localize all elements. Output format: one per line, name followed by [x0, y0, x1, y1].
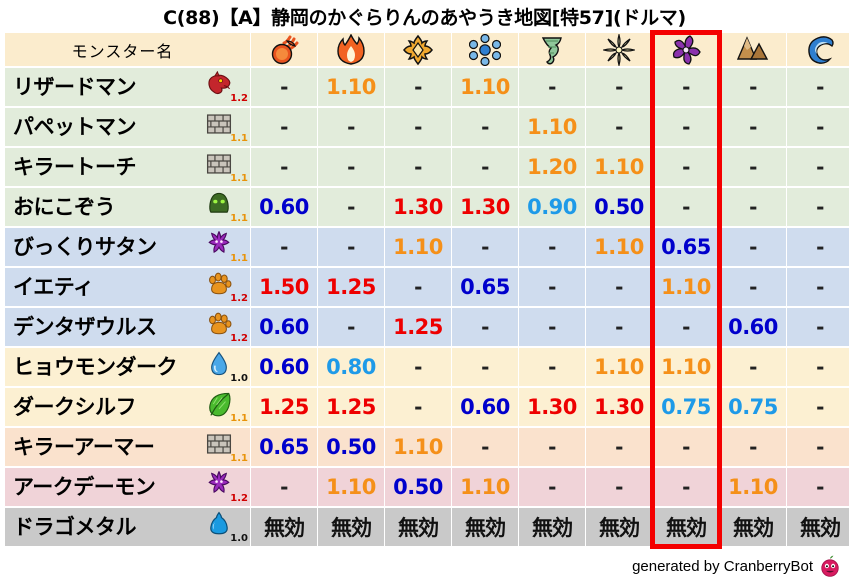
monster-name-cell[interactable]: キラートーチ1.1 — [5, 148, 250, 186]
resistance-value: - — [749, 115, 757, 139]
column-header-purple-pinwheel[interactable] — [653, 33, 719, 66]
dragon-head-icon — [206, 71, 232, 97]
monster-name-inner: ドラゴメタル1.0 — [5, 508, 250, 546]
paw-print-icon — [206, 271, 232, 297]
resistance-value: - — [682, 475, 690, 499]
resistance-cell: - — [586, 68, 652, 106]
resistance-value: 0.80 — [326, 355, 376, 379]
resistance-cell: 0.50 — [586, 188, 652, 226]
resistance-value: - — [682, 315, 690, 339]
resistance-value: - — [347, 235, 355, 259]
green-slime-icon — [206, 191, 232, 217]
resistance-value: 1.30 — [527, 395, 577, 419]
snowflake-icon — [469, 34, 501, 66]
table-row: デンタザウルス1.20.60-1.25----0.60- — [5, 308, 849, 346]
resistance-value: - — [347, 115, 355, 139]
resistance-value: 0.60 — [259, 315, 309, 339]
column-header-flame[interactable] — [318, 33, 384, 66]
resistance-value: 0.60 — [460, 395, 510, 419]
resistance-cell: - — [787, 428, 849, 466]
monster-name-label: キラーアーマー — [13, 437, 204, 458]
resistance-value: - — [548, 235, 556, 259]
resistance-cell: 0.60 — [720, 308, 786, 346]
resistance-cell: - — [318, 148, 384, 186]
resistance-cell: 0.60 — [251, 308, 317, 346]
resistance-cell: 0.60 — [452, 388, 518, 426]
resistance-cell: - — [653, 428, 719, 466]
brick-wall-icon — [206, 151, 232, 177]
resistance-cell: 0.60 — [251, 348, 317, 386]
explosion-icon — [402, 34, 434, 66]
resistance-value: 1.10 — [594, 155, 644, 179]
resistance-cell: 1.25 — [251, 388, 317, 426]
monster-name-label: キラートーチ — [13, 157, 204, 178]
cranberry-icon — [819, 555, 841, 577]
resistance-cell: - — [787, 468, 849, 506]
resistance-value: - — [414, 275, 422, 299]
resistance-value: - — [682, 75, 690, 99]
monster-multiplier-label: 1.1 — [230, 254, 248, 264]
resistance-value: 0.60 — [728, 315, 778, 339]
table-header-row: モンスター名 — [5, 33, 849, 66]
resistance-cell: 1.10 — [318, 68, 384, 106]
resistance-value: - — [548, 435, 556, 459]
resistance-value: 無効 — [800, 516, 840, 540]
resistance-value: 1.10 — [460, 75, 510, 99]
monster-name-inner: アークデーモン1.2 — [5, 468, 250, 506]
resistance-value: 0.65 — [661, 235, 711, 259]
resistance-cell: 無効 — [385, 508, 451, 546]
resistance-value: 無効 — [666, 516, 706, 540]
resistance-value: 0.75 — [661, 395, 711, 419]
resistance-value: - — [749, 435, 757, 459]
monster-name-inner: デンタザウルス1.2 — [5, 308, 250, 346]
resistance-value: 1.30 — [393, 195, 443, 219]
monster-type-badge: 1.0 — [204, 510, 250, 544]
monster-type-badge: 1.1 — [204, 390, 250, 424]
table-row: ダークシルフ1.11.251.25-0.601.301.300.750.75- — [5, 388, 849, 426]
monster-name-inner: おにこぞう1.1 — [5, 188, 250, 226]
resistance-value: - — [548, 355, 556, 379]
resistance-value: 無効 — [264, 516, 304, 540]
resistance-value: 無効 — [532, 516, 572, 540]
monster-name-cell[interactable]: イエティ1.2 — [5, 268, 250, 306]
resistance-value: - — [682, 195, 690, 219]
resistance-value: - — [816, 235, 824, 259]
column-header-wave[interactable] — [787, 33, 849, 66]
resistance-value: 無効 — [398, 516, 438, 540]
resistance-value: - — [414, 75, 422, 99]
resistance-cell: - — [385, 348, 451, 386]
monster-multiplier-label: 1.2 — [230, 334, 248, 344]
monster-name-inner: パペットマン1.1 — [5, 108, 250, 146]
resistance-cell: - — [519, 68, 585, 106]
resistance-cell: - — [385, 268, 451, 306]
resistance-cell: - — [251, 68, 317, 106]
resistance-cell: 0.65 — [251, 428, 317, 466]
meteor-fire-icon — [268, 34, 300, 66]
monster-name-cell[interactable]: ヒョウモンダーク1.0 — [5, 348, 250, 386]
resistance-cell: 1.10 — [452, 68, 518, 106]
resistance-cell: - — [653, 148, 719, 186]
resistance-cell: - — [787, 108, 849, 146]
resistance-value: - — [682, 115, 690, 139]
resistance-value: - — [548, 75, 556, 99]
resistance-cell: - — [519, 428, 585, 466]
table-body: リザードマン1.2-1.10-1.10-----パペットマン1.1----1.1… — [5, 68, 849, 546]
resistance-value: 1.10 — [393, 435, 443, 459]
table-row: ヒョウモンダーク1.00.600.80---1.101.10-- — [5, 348, 849, 386]
resistance-value: - — [280, 475, 288, 499]
water-drop-icon — [206, 351, 232, 377]
monster-multiplier-label: 1.1 — [230, 414, 248, 424]
resistance-value: 1.30 — [594, 395, 644, 419]
resistance-value: - — [615, 315, 623, 339]
resistance-cell: - — [653, 468, 719, 506]
resistance-value: 1.10 — [594, 355, 644, 379]
resistance-value: 1.10 — [661, 275, 711, 299]
monster-type-badge: 1.2 — [204, 470, 250, 504]
tornado-icon — [536, 34, 568, 66]
resistance-value: 1.10 — [594, 235, 644, 259]
resistance-value: 無効 — [465, 516, 505, 540]
resistance-value: - — [414, 355, 422, 379]
resistance-cell: - — [519, 308, 585, 346]
paw-print-icon — [206, 311, 232, 337]
monster-name-label: ヒョウモンダーク — [13, 357, 204, 378]
resistance-cell: - — [519, 268, 585, 306]
monster-name-label: パペットマン — [13, 117, 204, 138]
monster-type-badge: 1.1 — [204, 190, 250, 224]
resistance-table: モンスター名 リザードマン1.2-1.10-1.10-----パペットマン1.1… — [4, 31, 849, 548]
resistance-value: 0.50 — [594, 195, 644, 219]
column-header-monster-name: モンスター名 — [5, 33, 250, 66]
resistance-cell: 0.65 — [653, 228, 719, 266]
resistance-value: - — [615, 275, 623, 299]
monster-multiplier-label: 1.1 — [230, 174, 248, 184]
resistance-value: - — [749, 75, 757, 99]
resistance-value: - — [548, 315, 556, 339]
resistance-cell: - — [251, 228, 317, 266]
monster-name-label: おにこぞう — [13, 197, 204, 218]
resistance-cell: - — [586, 468, 652, 506]
resistance-value: - — [816, 275, 824, 299]
monster-name-cell[interactable]: キラーアーマー1.1 — [5, 428, 250, 466]
resistance-value: - — [816, 155, 824, 179]
resistance-cell: - — [787, 228, 849, 266]
resistance-cell: - — [385, 108, 451, 146]
resistance-value: - — [414, 395, 422, 419]
resistance-cell: 0.65 — [452, 268, 518, 306]
resistance-cell: 1.10 — [385, 228, 451, 266]
resistance-cell: - — [452, 228, 518, 266]
resistance-value: 0.65 — [460, 275, 510, 299]
resistance-value: 1.25 — [326, 395, 376, 419]
resistance-value: - — [615, 75, 623, 99]
purple-pinwheel-icon — [670, 34, 702, 66]
monster-name-inner: びっくりサタン1.1 — [5, 228, 250, 266]
resistance-value: 無効 — [599, 516, 639, 540]
resistance-value: - — [615, 435, 623, 459]
resistance-value: - — [749, 235, 757, 259]
monster-multiplier-label: 1.0 — [230, 534, 248, 544]
monster-name-cell[interactable]: アークデーモン1.2 — [5, 468, 250, 506]
resistance-cell: - — [519, 228, 585, 266]
blue-slime-icon — [206, 511, 232, 537]
resistance-cell: - — [787, 68, 849, 106]
column-header-snowflake[interactable] — [452, 33, 518, 66]
monster-type-badge: 1.2 — [204, 70, 250, 104]
monster-type-badge: 1.1 — [204, 110, 250, 144]
resistance-cell: 1.10 — [586, 348, 652, 386]
resistance-value: - — [682, 155, 690, 179]
resistance-value: - — [816, 475, 824, 499]
resistance-cell: - — [653, 108, 719, 146]
monster-name-cell[interactable]: ドラゴメタル1.0 — [5, 508, 250, 546]
page-title: C(88)【A】静岡のかぐらりんのあやうき地図[特57](ドルマ) — [0, 0, 849, 31]
resistance-cell: 0.50 — [318, 428, 384, 466]
resistance-cell: 1.10 — [586, 148, 652, 186]
resistance-value: - — [481, 435, 489, 459]
resistance-cell: - — [720, 148, 786, 186]
table-row: ドラゴメタル1.0無効無効無効無効無効無効無効無効無効 — [5, 508, 849, 546]
monster-multiplier-label: 1.1 — [230, 214, 248, 224]
green-leaf-icon — [206, 391, 232, 417]
monster-name-inner: ダークシルフ1.1 — [5, 388, 250, 426]
resistance-cell: - — [720, 228, 786, 266]
resistance-cell: - — [318, 188, 384, 226]
resistance-value: - — [816, 395, 824, 419]
monster-multiplier-label: 1.1 — [230, 134, 248, 144]
monster-name-label: ダークシルフ — [13, 397, 204, 418]
resistance-cell: - — [586, 108, 652, 146]
resistance-value: - — [280, 115, 288, 139]
resistance-value: 0.50 — [326, 435, 376, 459]
resistance-cell: - — [653, 188, 719, 226]
resistance-value: - — [481, 115, 489, 139]
resistance-cell: 1.20 — [519, 148, 585, 186]
resistance-value: - — [682, 435, 690, 459]
resistance-value: 1.25 — [393, 315, 443, 339]
resistance-cell: 0.50 — [385, 468, 451, 506]
resistance-cell: 1.25 — [385, 308, 451, 346]
resistance-value: 1.50 — [259, 275, 309, 299]
resistance-value: 1.10 — [326, 75, 376, 99]
resistance-value: 0.65 — [259, 435, 309, 459]
resistance-cell: - — [586, 308, 652, 346]
resistance-value: - — [816, 355, 824, 379]
resistance-cell: 1.30 — [385, 188, 451, 226]
resistance-cell: - — [586, 428, 652, 466]
resistance-cell: 0.60 — [251, 188, 317, 226]
monster-name-inner: リザードマン1.2 — [5, 68, 250, 106]
monster-name-inner: イエティ1.2 — [5, 268, 250, 306]
resistance-value: 無効 — [733, 516, 773, 540]
monster-name-label: デンタザウルス — [13, 317, 204, 338]
resistance-cell: - — [720, 188, 786, 226]
resistance-cell: - — [452, 428, 518, 466]
resistance-cell: - — [452, 148, 518, 186]
purple-demon-icon — [206, 231, 232, 257]
resistance-cell: - — [318, 308, 384, 346]
resistance-value: - — [749, 155, 757, 179]
resistance-cell: - — [519, 348, 585, 386]
resistance-cell: - — [787, 188, 849, 226]
resistance-value: 0.90 — [527, 195, 577, 219]
resistance-cell: - — [519, 468, 585, 506]
purple-demon-icon — [206, 471, 232, 497]
resistance-value: - — [816, 115, 824, 139]
resistance-value: 0.50 — [393, 475, 443, 499]
resistance-value: - — [280, 235, 288, 259]
monster-name-label: びっくりサタン — [13, 237, 204, 258]
monster-name-cell[interactable]: デンタザウルス1.2 — [5, 308, 250, 346]
resistance-cell: - — [586, 268, 652, 306]
resistance-cell: - — [720, 348, 786, 386]
resistance-cell: 1.10 — [519, 108, 585, 146]
resistance-cell: 無効 — [720, 508, 786, 546]
resistance-value: - — [414, 115, 422, 139]
starburst-icon — [603, 34, 635, 66]
monster-name-inner: キラーアーマー1.1 — [5, 428, 250, 466]
resistance-value: - — [749, 275, 757, 299]
monster-name-inner: キラートーチ1.1 — [5, 148, 250, 186]
resistance-cell: 1.50 — [251, 268, 317, 306]
resistance-cell: - — [318, 228, 384, 266]
resistance-cell: 1.30 — [519, 388, 585, 426]
resistance-value: 1.25 — [326, 275, 376, 299]
resistance-value: 0.75 — [728, 395, 778, 419]
resistance-cell: - — [653, 68, 719, 106]
resistance-cell: - — [720, 268, 786, 306]
resistance-cell: - — [653, 308, 719, 346]
resistance-cell: - — [385, 68, 451, 106]
resistance-cell: - — [787, 268, 849, 306]
column-header-explosion[interactable] — [385, 33, 451, 66]
monster-name-label: ドラゴメタル — [13, 517, 204, 538]
monster-name-cell[interactable]: リザードマン1.2 — [5, 68, 250, 106]
monster-type-badge: 1.2 — [204, 310, 250, 344]
monster-name-label: リザードマン — [13, 77, 204, 98]
column-header-tornado[interactable] — [519, 33, 585, 66]
resistance-cell: 1.30 — [586, 388, 652, 426]
resistance-value: - — [749, 195, 757, 219]
resistance-value: 1.30 — [460, 195, 510, 219]
resistance-value: 1.10 — [460, 475, 510, 499]
resistance-cell: 1.10 — [653, 348, 719, 386]
resistance-value: - — [548, 275, 556, 299]
resistance-value: - — [816, 75, 824, 99]
table-row: リザードマン1.2-1.10-1.10----- — [5, 68, 849, 106]
resistance-cell: - — [787, 148, 849, 186]
column-header-meteor-fire[interactable] — [251, 33, 317, 66]
resistance-value: - — [749, 355, 757, 379]
resistance-cell: 無効 — [251, 508, 317, 546]
resistance-cell: 0.75 — [720, 388, 786, 426]
resistance-cell: - — [251, 468, 317, 506]
monster-name-cell[interactable]: おにこぞう1.1 — [5, 188, 250, 226]
resistance-value: 0.60 — [259, 355, 309, 379]
monster-name-cell[interactable]: ダークシルフ1.1 — [5, 388, 250, 426]
resistance-cell: - — [251, 108, 317, 146]
resistance-cell: - — [385, 148, 451, 186]
resistance-cell: - — [251, 148, 317, 186]
resistance-value: 1.10 — [728, 475, 778, 499]
resistance-cell: - — [720, 108, 786, 146]
footer-text: generated by CranberryBot — [632, 558, 813, 575]
monster-type-badge: 1.1 — [204, 230, 250, 264]
resistance-cell: 1.10 — [586, 228, 652, 266]
resistance-cell: 無効 — [452, 508, 518, 546]
resistance-cell: 0.75 — [653, 388, 719, 426]
resistance-cell: 無効 — [318, 508, 384, 546]
monster-type-badge: 1.2 — [204, 270, 250, 304]
table-container: モンスター名 リザードマン1.2-1.10-1.10-----パペットマン1.1… — [0, 31, 849, 548]
resistance-value: 1.10 — [393, 235, 443, 259]
resistance-value: 1.10 — [527, 115, 577, 139]
brick-wall-icon — [206, 111, 232, 137]
table-row: イエティ1.21.501.25-0.65--1.10-- — [5, 268, 849, 306]
table-row: おにこぞう1.10.60-1.301.300.900.50--- — [5, 188, 849, 226]
resistance-cell: - — [720, 68, 786, 106]
mountain-icon — [737, 34, 769, 66]
resistance-value: 0.60 — [259, 195, 309, 219]
monster-name-label: イエティ — [13, 277, 204, 298]
resistance-value: 1.10 — [661, 355, 711, 379]
resistance-value: 1.20 — [527, 155, 577, 179]
column-header-mountain[interactable] — [720, 33, 786, 66]
column-header-starburst[interactable] — [586, 33, 652, 66]
resistance-value: - — [816, 315, 824, 339]
monster-name-label: アークデーモン — [13, 477, 204, 498]
resistance-value: - — [481, 355, 489, 379]
resistance-cell: - — [385, 388, 451, 426]
resistance-cell: 0.90 — [519, 188, 585, 226]
resistance-cell: 1.30 — [452, 188, 518, 226]
resistance-value: - — [816, 195, 824, 219]
resistance-cell: 無効 — [586, 508, 652, 546]
resistance-value: - — [481, 235, 489, 259]
footer: generated by CranberryBot — [632, 555, 841, 577]
monster-multiplier-label: 1.2 — [230, 494, 248, 504]
monster-name-cell[interactable]: びっくりサタン1.1 — [5, 228, 250, 266]
table-row: びっくりサタン1.1--1.10--1.100.65-- — [5, 228, 849, 266]
flame-icon — [335, 34, 367, 66]
resistance-value: - — [280, 155, 288, 179]
resistance-cell: - — [787, 348, 849, 386]
resistance-value: - — [615, 115, 623, 139]
page-root: C(88)【A】静岡のかぐらりんのあやうき地図[特57](ドルマ) モンスター名… — [0, 0, 849, 583]
monster-type-badge: 1.1 — [204, 430, 250, 464]
resistance-value: 1.10 — [326, 475, 376, 499]
resistance-cell: - — [318, 108, 384, 146]
resistance-cell: 1.25 — [318, 388, 384, 426]
resistance-cell: - — [452, 348, 518, 386]
resistance-cell: 1.10 — [385, 428, 451, 466]
table-row: パペットマン1.1----1.10---- — [5, 108, 849, 146]
resistance-value: - — [615, 475, 623, 499]
monster-multiplier-label: 1.2 — [230, 294, 248, 304]
wave-icon — [804, 34, 836, 66]
monster-multiplier-label: 1.2 — [230, 94, 248, 104]
resistance-value: 無効 — [331, 516, 371, 540]
monster-name-cell[interactable]: パペットマン1.1 — [5, 108, 250, 146]
resistance-value: - — [347, 315, 355, 339]
monster-type-badge: 1.0 — [204, 350, 250, 384]
monster-multiplier-label: 1.0 — [230, 374, 248, 384]
table-row: キラートーチ1.1----1.201.10--- — [5, 148, 849, 186]
resistance-value: - — [280, 75, 288, 99]
